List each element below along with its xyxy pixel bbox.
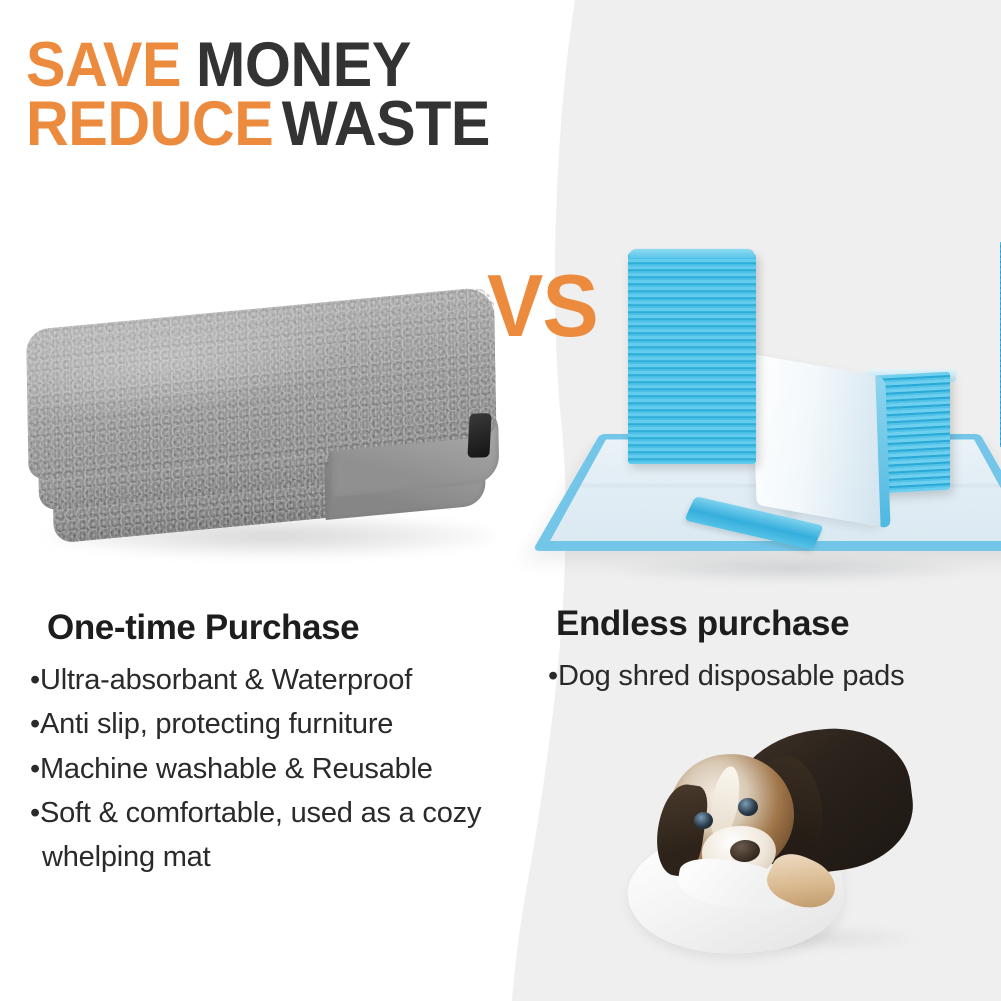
puppy-eye-left [694, 812, 713, 829]
list-item: •Soft & comfortable, used as a cozy [30, 791, 546, 835]
left-feature-column: One-time Purchase •Ultra-absorbant & Wat… [30, 608, 546, 880]
bullet-continuation-line: whelping mat [30, 835, 546, 879]
versus-label: VS [487, 262, 598, 350]
headline-reduce-word: REDUCE [26, 89, 273, 159]
left-bullet-list: •Ultra-absorbant & Waterproof •Anti slip… [30, 658, 546, 880]
bullet-text: Soft & comfortable, used as a cozy [40, 797, 481, 829]
bullet-marker-icon: • [548, 660, 558, 692]
bullet-marker-icon: • [30, 797, 40, 829]
puppy-photo [634, 722, 964, 972]
bullet-marker-icon: • [30, 753, 40, 785]
grey-mat-product-image [20, 300, 530, 600]
list-item: •Dog shred disposable pads [548, 654, 978, 698]
headline-waste-word: WASTE [282, 89, 490, 159]
bullet-text: Anti slip, protecting furniture [40, 708, 393, 740]
list-item: •Machine washable & Reusable [30, 747, 546, 791]
mat-body [26, 286, 498, 562]
bullet-text: Machine washable & Reusable [40, 753, 433, 785]
right-feature-column: Endless purchase •Dog shred disposable p… [548, 604, 978, 698]
disposable-pads-product-image [592, 238, 1001, 588]
right-bullet-list: •Dog shred disposable pads [548, 654, 978, 698]
list-item: •Ultra-absorbant & Waterproof [30, 658, 546, 702]
draped-white-pad [751, 354, 888, 528]
headline-line-2: REDUCEWASTE [26, 95, 609, 154]
bullet-text: Ultra-absorbant & Waterproof [40, 664, 412, 696]
puppy-eye-right [738, 798, 758, 816]
headline-line-1: SAVEMONEY [26, 36, 609, 95]
mat-label-tab [467, 413, 491, 458]
right-column-heading: Endless purchase [548, 604, 978, 644]
tall-pad-stack [628, 252, 756, 464]
headline-block: SAVEMONEY REDUCEWASTE [26, 36, 646, 153]
pads-drop-shadow [608, 556, 976, 582]
tall-stack-top-sheet [628, 249, 756, 258]
bullet-text: Dog shred disposable pads [558, 660, 904, 692]
product-comparison-infographic: SAVEMONEY REDUCEWASTE VS [0, 0, 1001, 1001]
bullet-marker-icon: • [30, 708, 40, 740]
bullet-marker-icon: • [30, 664, 40, 696]
left-column-heading: One-time Purchase [30, 608, 546, 648]
list-item: •Anti slip, protecting furniture [30, 702, 546, 746]
